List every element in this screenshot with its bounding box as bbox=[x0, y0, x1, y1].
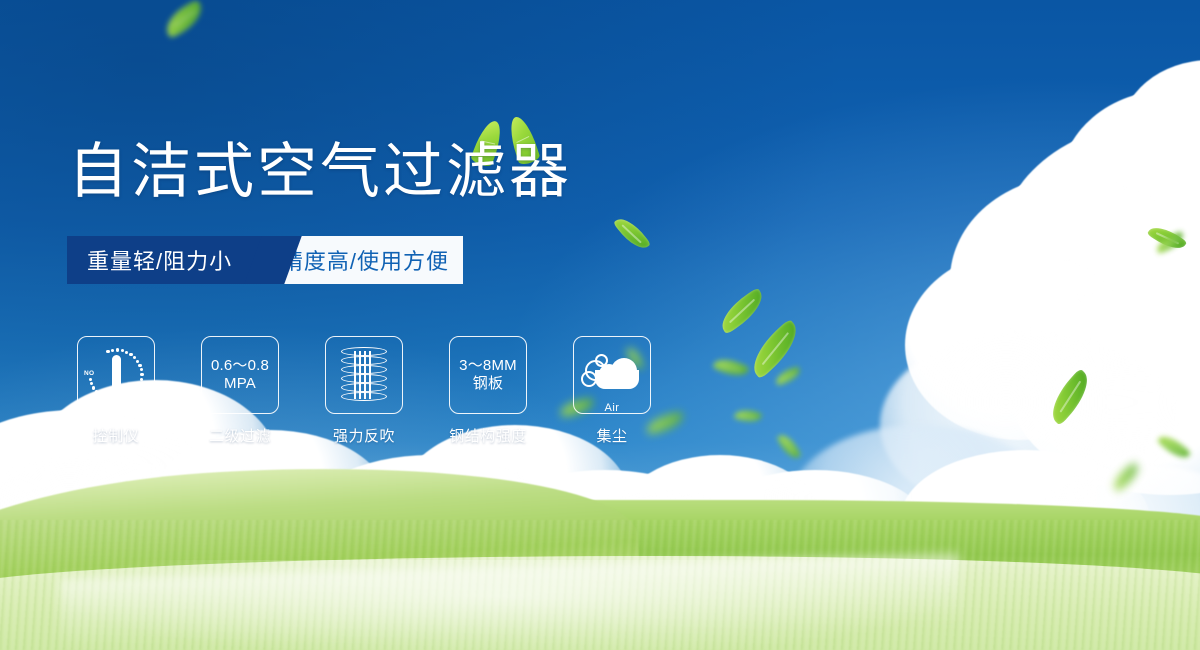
gauge-dot bbox=[125, 351, 128, 354]
gauge-dot bbox=[89, 378, 92, 381]
feature-icon-box: Air bbox=[573, 336, 651, 414]
page-title: 自洁式空气过滤器 bbox=[68, 142, 572, 202]
filter-ring bbox=[341, 374, 387, 383]
grass-highlight bbox=[0, 560, 1200, 650]
feature-icon-text-line2: 钢板 bbox=[473, 375, 503, 393]
feature-caption: 控制仪 bbox=[93, 425, 140, 446]
product-banner: 自洁式空气过滤器 精度高/使用方便 重量轻/阻力小 NO OFF 控制仪 bbox=[0, 0, 1200, 650]
gauge-dot bbox=[103, 396, 106, 399]
gauge-dot bbox=[90, 382, 93, 385]
feature-icon-box: 0.6～0.8 MPA bbox=[201, 336, 279, 414]
feature-icon-text-line1: 3～8MM bbox=[459, 357, 517, 375]
gauge-dot bbox=[106, 350, 109, 353]
gauge-dot bbox=[122, 397, 125, 400]
feature-item-controller[interactable]: NO OFF 控制仪 bbox=[76, 336, 156, 446]
filter-ring bbox=[341, 347, 387, 356]
air-icon-label: Air bbox=[581, 402, 643, 414]
filter-ring bbox=[341, 383, 387, 392]
gauge-dot bbox=[95, 390, 98, 393]
gauge-dot bbox=[136, 360, 139, 363]
feature-caption: 二级过滤 bbox=[209, 425, 271, 446]
tagline-left-text: 重量轻/阻力小 bbox=[87, 244, 232, 276]
gauge-dot bbox=[140, 378, 143, 381]
feature-icon-box: NO OFF bbox=[77, 336, 155, 414]
dust-ring-small bbox=[581, 371, 597, 387]
feature-icon-box bbox=[325, 336, 403, 414]
filter-coil-icon bbox=[341, 347, 387, 403]
gauge-dot bbox=[139, 382, 142, 385]
gauge-label-off: OFF bbox=[134, 393, 148, 400]
feature-item-blowback[interactable]: 强力反吹 bbox=[324, 336, 404, 446]
gauge-dot bbox=[111, 349, 114, 352]
gauge-label-no: NO bbox=[84, 370, 94, 377]
gauge-dot bbox=[121, 349, 124, 352]
gauge-dot bbox=[137, 386, 140, 389]
filter-ring bbox=[341, 392, 387, 401]
gauge-dot bbox=[130, 393, 133, 396]
feature-icon-text-line2: MPA bbox=[224, 375, 256, 393]
gauge-dot bbox=[112, 398, 115, 401]
feature-caption: 集尘 bbox=[596, 425, 627, 446]
gauge-dot bbox=[116, 348, 119, 351]
gauge-needle bbox=[112, 355, 121, 397]
gauge-dot bbox=[92, 386, 95, 389]
feature-caption: 钢结构强度 bbox=[449, 425, 527, 446]
feature-icon-text-line1: 0.6～0.8 bbox=[211, 357, 269, 375]
gauge-dot bbox=[107, 397, 110, 400]
gauge-icon: NO OFF bbox=[85, 346, 147, 404]
gauge-dot bbox=[117, 398, 120, 401]
tagline-left-segment: 重量轻/阻力小 bbox=[67, 236, 267, 284]
feature-item-dust[interactable]: Air 集尘 bbox=[572, 336, 652, 446]
tagline-bar: 精度高/使用方便 重量轻/阻力小 bbox=[67, 236, 463, 284]
dust-ring-tiny bbox=[595, 354, 608, 367]
feature-item-pressure[interactable]: 0.6～0.8 MPA 二级过滤 bbox=[200, 336, 280, 446]
gauge-dot bbox=[99, 393, 102, 396]
gauge-dot bbox=[129, 353, 132, 356]
feature-list: NO OFF 控制仪 0.6～0.8 MPA 二级过滤 bbox=[76, 336, 652, 446]
feature-icon-box: 3～8MM 钢板 bbox=[449, 336, 527, 414]
feature-caption: 强力反吹 bbox=[333, 425, 395, 446]
gauge-dot bbox=[140, 368, 143, 371]
gauge-dot bbox=[138, 364, 141, 367]
gauge-dot bbox=[133, 356, 136, 359]
air-cloud-icon: Air bbox=[581, 350, 643, 400]
filter-ring bbox=[341, 365, 387, 374]
tagline-right-text: 精度高/使用方便 bbox=[281, 244, 449, 276]
gauge-dot bbox=[126, 396, 129, 399]
gauge-dot bbox=[140, 373, 143, 376]
feature-item-steel[interactable]: 3～8MM 钢板 钢结构强度 bbox=[448, 336, 528, 446]
filter-ring bbox=[341, 356, 387, 365]
